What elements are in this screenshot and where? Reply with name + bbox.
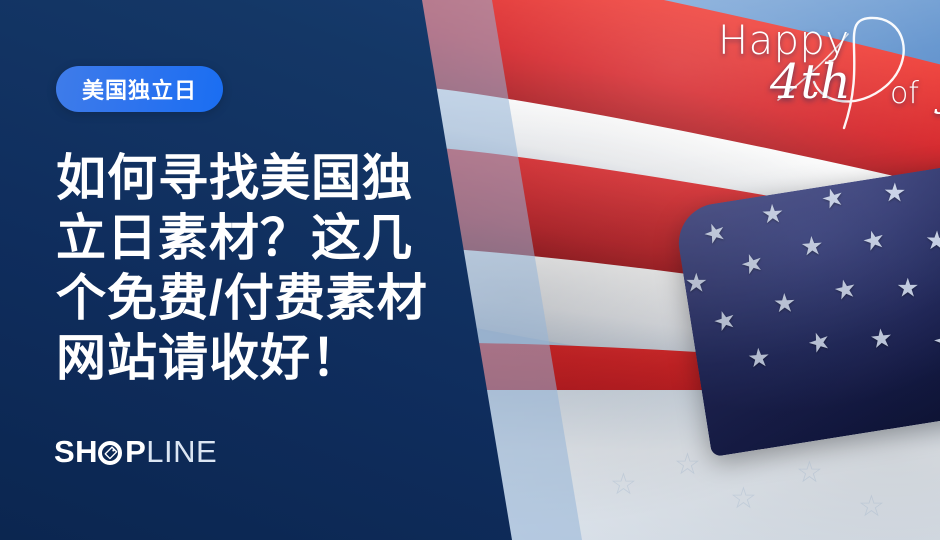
- logo-line-text: LINE: [146, 434, 217, 470]
- headline-line-4: 网站请收好！: [56, 328, 436, 388]
- flag-star: ★: [710, 305, 740, 337]
- flag-faint-star: ☆: [796, 458, 823, 488]
- flag-star: ★: [699, 217, 730, 250]
- flag-star: ★: [930, 325, 940, 356]
- headline-title: 如何寻找美国独 立日素材？这几 个免费/付费素材 网站请收好！: [56, 148, 436, 388]
- flag-star: ★: [800, 232, 825, 260]
- price-tag-icon: [103, 446, 118, 461]
- flag-faint-star: ☆: [674, 450, 701, 480]
- flag-star: ★: [859, 224, 889, 255]
- headline-line-3: 个免费/付费素材: [56, 268, 436, 328]
- flag-faint-star: ☆: [730, 484, 757, 514]
- flag-star: ★: [737, 247, 768, 279]
- logo-p-letter: P: [125, 434, 146, 470]
- flag-star: ★: [831, 274, 860, 305]
- flag-star: ★: [760, 200, 785, 227]
- flag-faint-star: ☆: [610, 470, 637, 500]
- flag-star: ★: [896, 274, 919, 300]
- flag-star: ★: [773, 289, 797, 316]
- flag-star: ★: [804, 326, 835, 358]
- flag-star: ★: [818, 182, 848, 214]
- category-badge[interactable]: 美国独立日: [56, 66, 223, 112]
- independence-day-banner: ★ ★ ★ ★ ★ ★ ★ ★ ★ ★ ★ ★ ★ ★ ★ ★ ★ ★ ★ ★ …: [0, 0, 940, 540]
- flag-star: ★: [685, 269, 708, 295]
- logo-o-letter: [98, 437, 125, 468]
- flag-faint-star: ☆: [858, 492, 885, 522]
- flag-star: ★: [746, 344, 771, 372]
- headline-line-2: 立日素材？这几: [56, 208, 436, 268]
- logo-shop-text: SH: [54, 434, 98, 470]
- shopline-logo[interactable]: SH P LINE: [54, 435, 217, 469]
- flag-star: ★: [883, 179, 907, 205]
- flag-reflected-stars: ☆ ☆ ☆ ☆ ☆: [600, 440, 940, 540]
- flag-star: ★: [868, 324, 894, 352]
- flag-star: ★: [925, 227, 940, 254]
- headline-line-1: 如何寻找美国独: [56, 148, 436, 208]
